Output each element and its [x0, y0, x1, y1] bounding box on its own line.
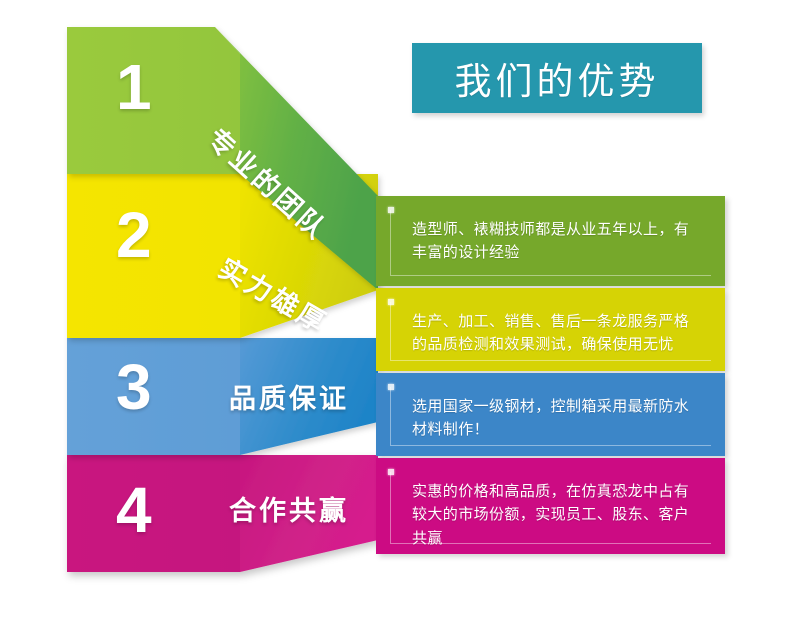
description-text-4: 实惠的价格和高品质，在仿真恐龙中占有较大的市场份额，实现员工、股东、客户共赢	[412, 480, 703, 550]
page-title: 我们的优势	[455, 51, 660, 105]
description-panel-4[interactable]: 实惠的价格和高品质，在仿真恐龙中占有较大的市场份额，实现员工、股东、客户共赢	[376, 458, 725, 554]
description-text-1: 造型师、裱糊技师都是从业五年以上，有丰富的设计经验	[412, 218, 703, 265]
description-text-3: 选用国家一级钢材，控制箱采用最新防水材料制作！	[412, 395, 703, 442]
description-panel-2[interactable]: 生产、加工、销售、售后一条龙服务严格的品质检测和效果测试，确保使用无忧	[376, 288, 725, 371]
description-text-2: 生产、加工、销售、售后一条龙服务严格的品质检测和效果测试，确保使用无忧	[412, 310, 703, 357]
bullet-dot-icon	[388, 469, 394, 475]
bullet-dot-icon	[388, 207, 394, 213]
title-banner: 我们的优势	[412, 43, 702, 113]
description-panel-3[interactable]: 选用国家一级钢材，控制箱采用最新防水材料制作！	[376, 373, 725, 456]
ribbon-4[interactable]	[67, 455, 378, 572]
ribbon-3[interactable]	[67, 338, 378, 455]
bullet-dot-icon	[388, 384, 394, 390]
infographic-canvas: 1 2 3 4 专业的团队 实力雄厚 品质保证 合作共赢 我们的优势 造型师、裱…	[0, 0, 800, 622]
description-panel-1[interactable]: 造型师、裱糊技师都是从业五年以上，有丰富的设计经验	[376, 196, 725, 286]
bullet-dot-icon	[388, 299, 394, 305]
